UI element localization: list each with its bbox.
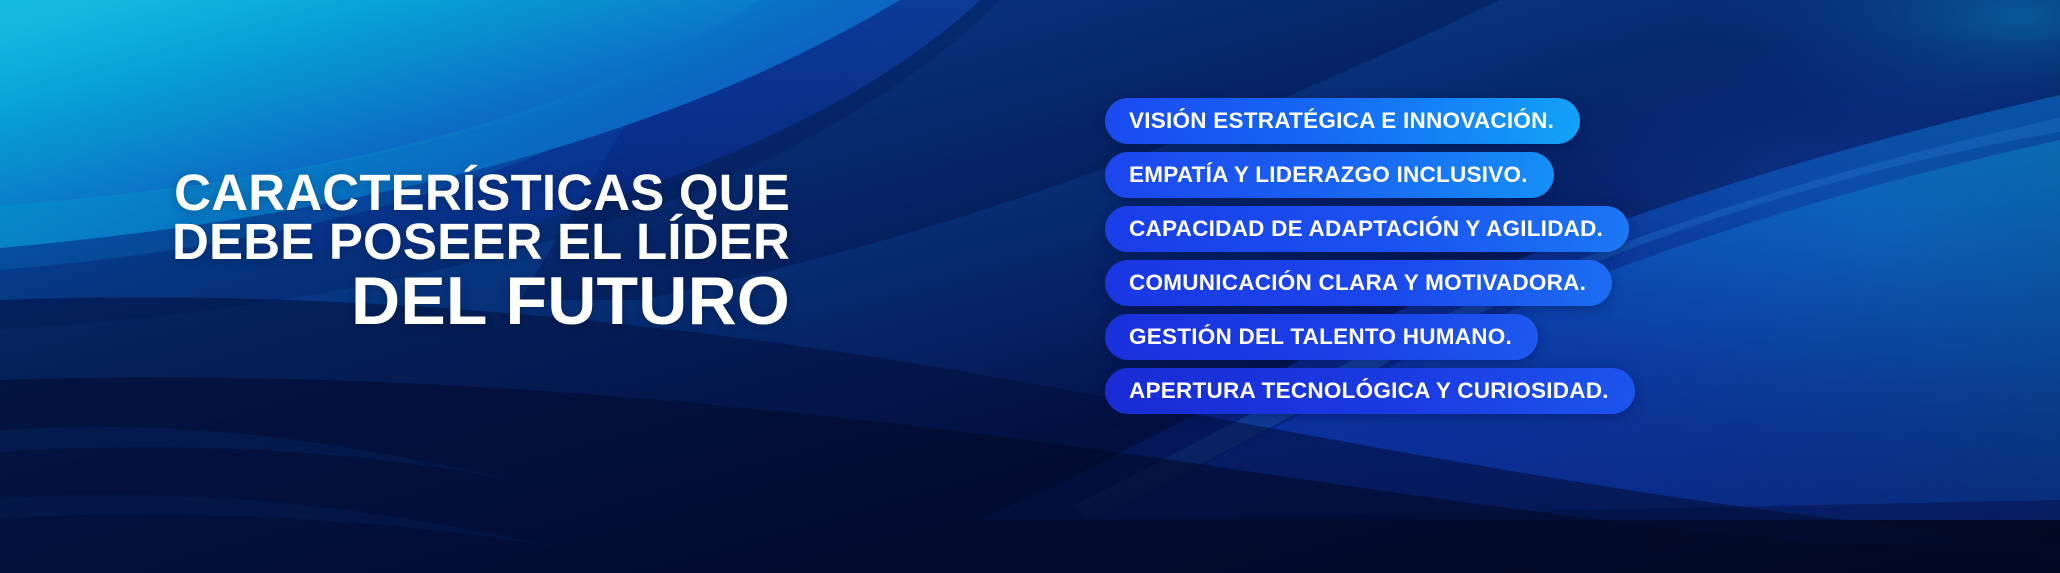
headline-block: CARACTERÍSTICAS QUE DEBE POSEER EL LÍDER… <box>0 168 790 335</box>
characteristic-pill-6-label: APERTURA TECNOLÓGICA Y CURIOSIDAD. <box>1129 378 1609 404</box>
headline-line-1: CARACTERÍSTICAS QUE <box>0 168 790 217</box>
characteristic-pill-1-label: VISIÓN ESTRATÉGICA E INNOVACIÓN. <box>1129 108 1554 134</box>
characteristic-pill-5[interactable]: GESTIÓN DEL TALENTO HUMANO. <box>1105 314 1538 360</box>
characteristics-list: VISIÓN ESTRATÉGICA E INNOVACIÓN. EMPATÍA… <box>1105 98 1635 414</box>
characteristic-pill-3[interactable]: CAPACIDAD DE ADAPTACIÓN Y AGILIDAD. <box>1105 206 1629 252</box>
characteristic-pill-6[interactable]: APERTURA TECNOLÓGICA Y CURIOSIDAD. <box>1105 368 1635 414</box>
characteristic-pill-5-label: GESTIÓN DEL TALENTO HUMANO. <box>1129 324 1512 350</box>
characteristic-pill-2-label: EMPATÍA Y LIDERAZGO INCLUSIVO. <box>1129 162 1528 188</box>
headline-line-3: DEL FUTURO <box>0 269 790 335</box>
characteristic-pill-4[interactable]: COMUNICACIÓN CLARA Y MOTIVADORA. <box>1105 260 1612 306</box>
headline-line-2: DEBE POSEER EL LÍDER <box>0 217 790 266</box>
leadership-banner: CARACTERÍSTICAS QUE DEBE POSEER EL LÍDER… <box>0 0 2060 573</box>
characteristic-pill-3-label: CAPACIDAD DE ADAPTACIÓN Y AGILIDAD. <box>1129 216 1603 242</box>
characteristic-pill-1[interactable]: VISIÓN ESTRATÉGICA E INNOVACIÓN. <box>1105 98 1580 144</box>
characteristic-pill-4-label: COMUNICACIÓN CLARA Y MOTIVADORA. <box>1129 270 1586 296</box>
characteristic-pill-2[interactable]: EMPATÍA Y LIDERAZGO INCLUSIVO. <box>1105 152 1554 198</box>
